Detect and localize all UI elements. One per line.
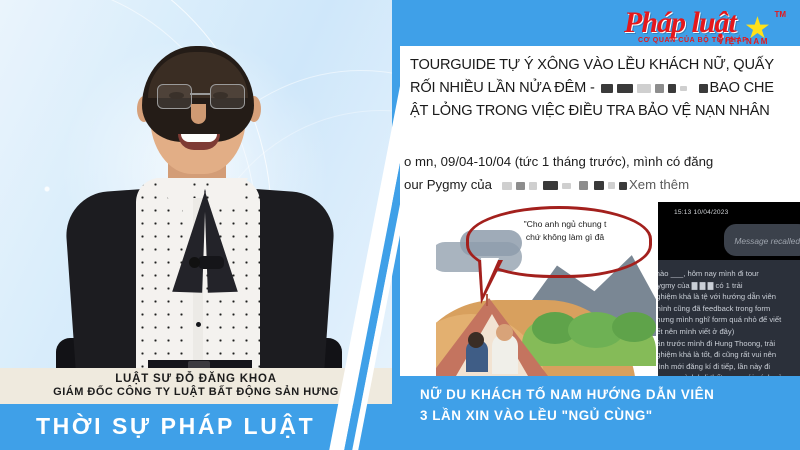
post-line-2-text: our Pygmy của (404, 177, 492, 192)
bubble-line-2: chứ không làm gì đâ (480, 231, 650, 244)
story-caption: NỮ DU KHÁCH TỐ NAM HƯỚNG DẪN VIÊN 3 LẦN … (420, 384, 800, 426)
program-title: THỜI SỰ PHÁP LUẬT (36, 413, 315, 440)
post-line-2: our Pygmy củaXem thêm (404, 173, 800, 196)
redaction-block (594, 181, 604, 190)
story-panel: Pháp luật CƠ QUAN CỦA BỘ TƯ PHÁP VIỆT NA… (400, 0, 800, 450)
chat-line: chào ___, hôm nay mình đi tour (658, 268, 800, 280)
see-more-link[interactable]: Xem thêm (629, 177, 689, 192)
lower-third-nameplate: LUẬT SƯ ĐỖ ĐĂNG KHOA GIÁM ĐỐC CÔNG TY LU… (0, 368, 392, 404)
campsite-illustration: "Cho anh ngủ chung t chứ không làm gì đâ (436, 202, 656, 376)
chat-timestamp: 15:13 10/04/2023 (674, 209, 729, 216)
channel-logo[interactable]: Pháp luật CƠ QUAN CỦA BỘ TƯ PHÁP VIỆT NA… (612, 4, 792, 46)
chat-line: (mình cũng đã feedback trong form (658, 303, 800, 315)
redaction-block (608, 182, 615, 189)
chat-line: Pygmy của ▇ ▇ ▇ có 1 trải (658, 280, 800, 292)
teeth (181, 134, 217, 142)
redaction-block (601, 84, 613, 93)
headline-line-2-start: RỐI NHIỀU LẦN NỬA ĐÊM - (410, 80, 599, 96)
headline-line-3: ẬT LỎNG TRONG VIỆC ĐIỀU TRA BẢO VỆ NẠN N… (410, 100, 800, 123)
recalled-message-bubble: Message recalled (724, 224, 800, 256)
redaction-block (619, 182, 627, 190)
chat-line: Lần trước mình đi Hung Thoong, trải (658, 338, 800, 350)
redaction-block (637, 84, 651, 93)
bubble-line-1: "Cho anh ngủ chung t (480, 218, 650, 231)
post-line-1: o mn, 09/04-10/04 (tức 1 tháng trước), m… (404, 150, 800, 173)
speech-bubble-text: "Cho anh ngủ chung t chứ không làm gì đâ (480, 218, 650, 244)
nose (191, 104, 206, 124)
redaction-block (699, 84, 708, 93)
caption-line-1: NỮ DU KHÁCH TỐ NAM HƯỚNG DẪN VIÊN (420, 384, 800, 405)
recalled-message-label: Message recalled (734, 236, 800, 246)
logo-wordmark: Pháp luật (624, 6, 736, 40)
redaction-block (543, 181, 558, 190)
redaction-block (502, 182, 512, 190)
headline-line-1: TOURGUIDE TỰ Ý XÔNG VÀO LỀU KHÁCH NỮ, QU… (410, 54, 800, 77)
chat-line: nghiệm khá là tốt, đi cũng rất vui nên (658, 349, 800, 361)
camper-head-right (496, 324, 513, 341)
news-broadcast-frame: LUẬT SƯ ĐỖ ĐĂNG KHOA GIÁM ĐỐC CÔNG TY LU… (0, 0, 800, 450)
headline-line-2: RỐI NHIỀU LẦN NỬA ĐÊM - BAO CHE (410, 77, 800, 100)
trademark-label: TM (774, 10, 786, 19)
camper-head-left (468, 332, 484, 348)
speaker-panel: LUẬT SƯ ĐỖ ĐĂNG KHOA GIÁM ĐỐC CÔNG TY LU… (0, 0, 392, 450)
redaction-block (655, 84, 664, 93)
lapel-left (154, 187, 206, 293)
star-icon: ★ (744, 16, 770, 42)
speech-bubble-tail-inner (481, 258, 499, 294)
redaction-block (617, 84, 633, 93)
chat-line: nhưng mình nghĩ form quá nhỏ để viết (658, 314, 800, 326)
caption-line-2: 3 LẦN XIN VÀO LỀU "NGỦ CÙNG" (420, 405, 800, 426)
redaction-block (562, 183, 571, 189)
post-body: o mn, 09/04-10/04 (tức 1 tháng trước), m… (404, 150, 800, 196)
chat-screenshot: 15:13 10/04/2023 Message recalled chào _… (658, 202, 800, 376)
speaker-portrait (52, 38, 342, 368)
chat-message-bubble: chào ___, hôm nay mình đi tour Pygmy của… (658, 260, 800, 376)
chat-line: mình mới đăng kí đi tiếp, lần này đi (658, 361, 800, 373)
redaction-block (680, 86, 687, 91)
glasses-bridge (190, 93, 210, 95)
bush (612, 312, 656, 342)
lapel-right (204, 187, 256, 293)
lapel-microphone-icon (198, 256, 224, 269)
speaker-title: GIÁM ĐỐC CÔNG TY LUẬT BẤT ĐỘNG SẢN HƯNG (53, 386, 339, 399)
headline-line-2-end: BAO CHE (710, 80, 774, 96)
shirt-button (196, 322, 201, 327)
lens-left (157, 84, 192, 109)
chat-line: nghiệm khá là tệ với hướng dẫn viên (658, 291, 800, 303)
lens-right (210, 84, 245, 109)
chat-line: hết nên mình viết ở đây) (658, 326, 800, 338)
redaction-block (579, 181, 588, 190)
redaction-block (516, 182, 525, 190)
article-screenshot: TOURGUIDE TỰ Ý XÔNG VÀO LỀU KHÁCH NỮ, QU… (400, 46, 800, 376)
article-headline: TOURGUIDE TỰ Ý XÔNG VÀO LỀU KHÁCH NỮ, QU… (410, 54, 800, 123)
redaction-block (529, 182, 537, 190)
redaction-block (668, 84, 676, 93)
speaker-name: LUẬT SƯ ĐỖ ĐĂNG KHOA (115, 373, 277, 386)
